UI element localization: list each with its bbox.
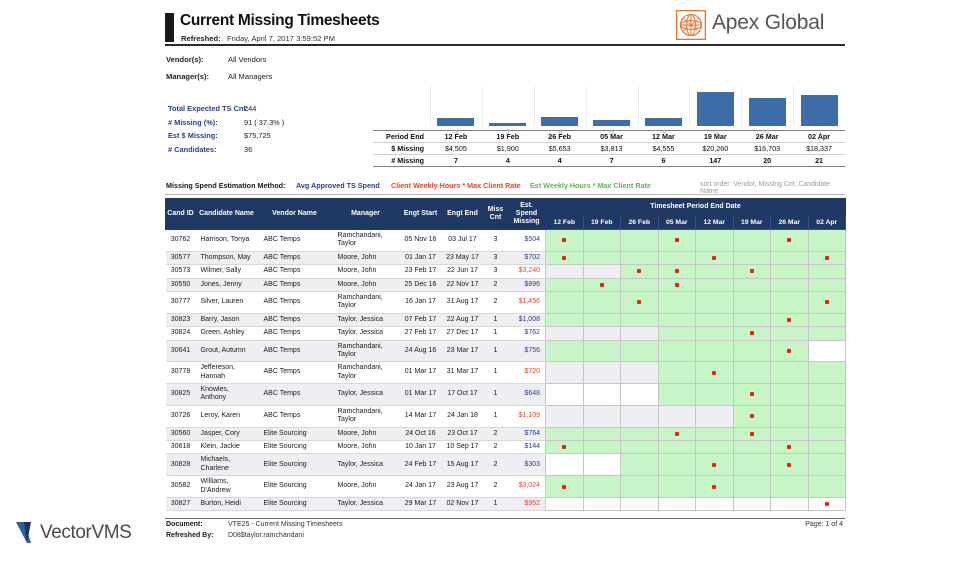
title-accent-bar [165, 13, 174, 42]
period-cell-12-feb[interactable] [546, 327, 584, 340]
cell-candidate-name: Barry, Jason [196, 313, 258, 326]
period-cell-12-mar[interactable] [696, 340, 734, 362]
table-row[interactable]: 30825Knowles, AnthonyABC TempsTaylor, Je… [166, 384, 846, 406]
cell-engt-end: 23 May 17 [442, 251, 484, 264]
period-cell-02-apr[interactable] [808, 340, 846, 362]
period-summary-cell: 6 [638, 155, 690, 167]
report-footer: Document: VTE25 - Current Missing Timesh… [165, 521, 845, 543]
chart-bar-cell: -4 [638, 86, 690, 126]
cell-est-spend-missing: $1,008 [508, 313, 546, 326]
cell-engt-end: 23 Mar 17 [442, 340, 484, 362]
period-cell-12-feb[interactable] [546, 427, 584, 440]
table-row[interactable]: 30560Jasper, CoryElite SourcingMoore, Jo… [166, 427, 846, 440]
refreshed-label: Refreshed: [181, 34, 221, 43]
period-cell-19-feb[interactable] [583, 251, 621, 264]
period-cell-02-apr[interactable] [808, 384, 846, 406]
missing-timesheet-marker-icon [787, 463, 791, 467]
period-cell-19-mar[interactable] [733, 384, 771, 406]
period-cell-19-mar[interactable] [733, 313, 771, 326]
header-timesheet-period-group: Timesheet Period End Date [546, 199, 846, 216]
refreshed-by-label: Refreshed By: [166, 532, 213, 539]
period-cell-12-feb[interactable] [546, 340, 584, 362]
missing-timesheet-marker-icon [750, 392, 754, 396]
period-cell-12-mar[interactable] [696, 454, 734, 476]
cell-candidate-name: Williams, D'Andrew [196, 476, 258, 498]
method-option-avg-approved[interactable]: Avg Approved TS Spend [296, 181, 380, 190]
missing-timesheet-marker-icon [712, 371, 716, 375]
stat-label: Est $ Missing: [168, 131, 218, 140]
vendor-filter-value[interactable]: All Vendors [228, 55, 266, 64]
period-cell-19-mar[interactable] [733, 251, 771, 264]
period-cell-05-mar[interactable] [658, 230, 696, 252]
header-period-26-mar[interactable]: 26 Mar [771, 216, 809, 230]
period-cell-19-mar[interactable] [733, 427, 771, 440]
period-cell-12-feb[interactable] [546, 454, 584, 476]
header-candidate-name[interactable]: Candidate Name [196, 199, 258, 230]
cell-manager: Moore, John [332, 278, 400, 291]
table-row[interactable]: 30778Jeffereson, HannahABC TempsRamchand… [166, 362, 846, 384]
period-cell-26-feb[interactable] [621, 497, 659, 510]
period-cell-26-feb[interactable] [621, 476, 659, 498]
period-cell-26-feb[interactable] [621, 265, 659, 278]
apex-global-logo: Apex Global [676, 9, 848, 43]
period-cell-26-feb[interactable] [621, 384, 659, 406]
table-row[interactable]: 30827Burton, HeidiElite SourcingTaylor, … [166, 497, 846, 510]
period-cell-19-mar[interactable] [733, 441, 771, 454]
stat-label: # Candidates: [168, 145, 216, 154]
period-cell-05-mar[interactable] [658, 476, 696, 498]
period-summary-cell: $4,505 [430, 143, 482, 155]
chart-bar-label: -3 [697, 129, 734, 136]
cell-manager: Ramchandani, Taylor [332, 291, 400, 313]
header-cand-id[interactable]: Cand ID [166, 199, 196, 230]
period-cell-05-mar[interactable] [658, 497, 696, 510]
period-cell-05-mar[interactable] [658, 313, 696, 326]
period-cell-19-feb[interactable] [583, 291, 621, 313]
header-vendor-name[interactable]: Vendor Name [258, 199, 332, 230]
est-spend-value: $896 [524, 281, 540, 288]
period-cell-19-feb[interactable] [583, 327, 621, 340]
period-cell-26-mar[interactable] [771, 497, 809, 510]
period-cell-05-mar[interactable] [658, 454, 696, 476]
period-cell-12-mar[interactable] [696, 230, 734, 252]
header-period-19-feb[interactable]: 19 Feb [583, 216, 621, 230]
period-cell-02-apr[interactable] [808, 313, 846, 326]
sort-order-note: sort order: Vendor, Missing Cnt, Candida… [700, 181, 845, 195]
cell-manager: Taylor, Jessica [332, 497, 400, 510]
cell-manager: Moore, John [332, 427, 400, 440]
period-cell-19-mar[interactable] [733, 230, 771, 252]
period-cell-12-mar[interactable] [696, 251, 734, 264]
period-cell-19-feb[interactable] [583, 265, 621, 278]
period-cell-02-apr[interactable] [808, 230, 846, 252]
missing-timesheet-marker-icon [787, 238, 791, 242]
period-cell-26-feb[interactable] [621, 340, 659, 362]
period-cell-02-apr[interactable] [808, 497, 846, 510]
page-number: Page: 1 of 4 [805, 521, 843, 528]
header-engt-end[interactable]: Engt End [442, 199, 484, 230]
missing-timesheet-marker-icon [675, 283, 679, 287]
header-period-12-mar[interactable]: 12 Mar [696, 216, 734, 230]
period-cell-26-mar[interactable] [771, 230, 809, 252]
missing-timesheet-marker-icon [600, 283, 604, 287]
period-cell-12-feb[interactable] [546, 476, 584, 498]
chart-bar-cell: -3 [689, 86, 741, 126]
cell-engt-end: 03 Jul 17 [442, 230, 484, 252]
period-cell-19-feb[interactable] [583, 340, 621, 362]
period-cell-19-feb[interactable] [583, 476, 621, 498]
cell-engt-start: 14 Mar 17 [400, 405, 442, 427]
period-cell-26-feb[interactable] [621, 313, 659, 326]
period-cell-12-mar[interactable] [696, 405, 734, 427]
cell-engt-end: 31 Mar 17 [442, 362, 484, 384]
chart-bar-label: -7 [489, 129, 526, 136]
stat-missing-pct: # Missing (%): 91 ( 37.3% ) [168, 118, 408, 132]
footer-row-document: Document: VTE25 - Current Missing Timesh… [165, 521, 845, 532]
period-cell-12-mar[interactable] [696, 497, 734, 510]
chart-bar: -6 [541, 117, 578, 126]
cell-engt-start: 01 Mar 17 [400, 384, 442, 406]
period-summary-cell: $4,555 [638, 143, 690, 155]
period-cell-19-feb[interactable] [583, 427, 621, 440]
period-cell-05-mar[interactable] [658, 251, 696, 264]
document-label: Document: [166, 521, 203, 528]
period-cell-26-mar[interactable] [771, 291, 809, 313]
cell-manager: Moore, John [332, 251, 400, 264]
period-cell-05-mar[interactable] [658, 405, 696, 427]
cell-engt-end: 02 Nov 17 [442, 497, 484, 510]
period-cell-12-mar[interactable] [696, 384, 734, 406]
period-cell-05-mar[interactable] [658, 278, 696, 291]
period-cell-05-mar[interactable] [658, 441, 696, 454]
period-cell-12-feb[interactable] [546, 230, 584, 252]
missing-timesheet-marker-icon [787, 349, 791, 353]
cell-manager: Taylor, Jessica [332, 384, 400, 406]
table-row[interactable]: 30762Harrison, TonyaABC TempsRamchandani… [166, 230, 846, 252]
period-cell-26-mar[interactable] [771, 340, 809, 362]
period-cell-12-feb[interactable] [546, 251, 584, 264]
stat-value: 244 [244, 104, 256, 113]
period-cell-05-mar[interactable] [658, 384, 696, 406]
period-cell-26-mar[interactable] [771, 362, 809, 384]
table-row[interactable]: 30777Silver, LaurenABC TempsRamchandani,… [166, 291, 846, 313]
missing-timesheet-marker-icon [675, 432, 679, 436]
missing-timesheet-marker-icon [675, 269, 679, 273]
period-cell-19-mar[interactable] [733, 405, 771, 427]
period-cell-02-apr[interactable] [808, 454, 846, 476]
chart-bar-label: -2 [749, 129, 786, 136]
cell-cand-id: 30778 [166, 362, 196, 384]
missing-timesheet-marker-icon [825, 256, 829, 260]
cell-engt-start: 01 Jan 17 [400, 251, 442, 264]
period-cell-26-feb[interactable] [621, 327, 659, 340]
est-spend-value: $764 [524, 430, 540, 437]
manager-filter-value[interactable]: All Managers [228, 72, 272, 81]
cell-engt-start: 24 Jan 17 [400, 476, 442, 498]
stat-label: # Missing (%): [168, 118, 218, 127]
vectorvms-logo: VectorVMS [14, 519, 134, 549]
period-cell-26-feb[interactable] [621, 441, 659, 454]
period-cell-26-feb[interactable] [621, 230, 659, 252]
period-cell-12-mar[interactable] [696, 265, 734, 278]
period-cell-02-apr[interactable] [808, 251, 846, 264]
cell-miss-cnt: 2 [484, 441, 508, 454]
period-cell-12-feb[interactable] [546, 291, 584, 313]
missing-timesheet-marker-icon [750, 432, 754, 436]
est-spend-value: $648 [524, 390, 540, 397]
filters-block: Vendor(s): All Vendors Manager(s): All M… [165, 55, 565, 89]
period-cell-12-mar[interactable] [696, 362, 734, 384]
table-row[interactable]: 30618Klein, JackieElite SourcingMoore, J… [166, 441, 846, 454]
header-period-19-mar[interactable]: 19 Mar [733, 216, 771, 230]
cell-engt-end: 24 Jan 18 [442, 405, 484, 427]
period-cell-12-mar[interactable] [696, 291, 734, 313]
period-cell-19-mar[interactable] [733, 476, 771, 498]
period-cell-26-mar[interactable] [771, 265, 809, 278]
cell-manager: Ramchandani, Taylor [332, 405, 400, 427]
period-cell-12-mar[interactable] [696, 313, 734, 326]
est-spend-value: $144 [524, 443, 540, 450]
chart-bars: -8-7-6-5-4-3-2-1 [430, 86, 845, 126]
period-cell-12-feb[interactable] [546, 384, 584, 406]
period-cell-02-apr[interactable] [808, 278, 846, 291]
period-cell-12-feb[interactable] [546, 278, 584, 291]
period-cell-26-feb[interactable] [621, 278, 659, 291]
table-row[interactable]: 30823Barry, JasonABC TempsTaylor, Jessic… [166, 313, 846, 326]
cell-miss-cnt: 2 [484, 454, 508, 476]
period-cell-02-apr[interactable] [808, 291, 846, 313]
table-row[interactable]: 30641Grout, AutumnABC TempsRamchandani, … [166, 340, 846, 362]
header-manager[interactable]: Manager [332, 199, 400, 230]
period-summary-cell: 4 [482, 155, 534, 167]
period-cell-05-mar[interactable] [658, 265, 696, 278]
cell-miss-cnt: 3 [484, 251, 508, 264]
period-cell-19-feb[interactable] [583, 405, 621, 427]
missing-timesheet-marker-icon [712, 256, 716, 260]
period-cell-05-mar[interactable] [658, 340, 696, 362]
period-cell-05-mar[interactable] [658, 291, 696, 313]
table-row[interactable]: 30573Wilmer, SallyABC TempsMoore, John23… [166, 265, 846, 278]
period-cell-12-feb[interactable] [546, 497, 584, 510]
period-cell-19-mar[interactable] [733, 278, 771, 291]
missing-timesheet-marker-icon [825, 502, 829, 506]
period-cell-26-feb[interactable] [621, 251, 659, 264]
chart-bar: -7 [489, 123, 526, 126]
period-cell-26-mar[interactable] [771, 454, 809, 476]
missing-spend-bar-chart: -8-7-6-5-4-3-2-1 [430, 86, 845, 132]
period-cell-19-mar[interactable] [733, 497, 771, 510]
period-cell-26-mar[interactable] [771, 476, 809, 498]
period-cell-02-apr[interactable] [808, 362, 846, 384]
period-cell-26-feb[interactable] [621, 405, 659, 427]
est-spend-value: $702 [524, 254, 540, 261]
period-cell-19-feb[interactable] [583, 441, 621, 454]
header-est-spend-missing[interactable]: Est. Spend Missing [508, 199, 546, 230]
est-spend-value: $756 [524, 347, 540, 354]
cell-miss-cnt: 1 [484, 327, 508, 340]
table-row[interactable]: 30577Thompson, MayABC TempsMoore, John01… [166, 251, 846, 264]
period-cell-19-feb[interactable] [583, 454, 621, 476]
cell-est-spend-missing: $3,240 [508, 265, 546, 278]
period-cell-26-mar[interactable] [771, 384, 809, 406]
cell-engt-end: 22 Aug 17 [442, 313, 484, 326]
header-period-26-feb[interactable]: 26 Feb [621, 216, 659, 230]
cell-manager: Taylor, Jessica [332, 313, 400, 326]
period-cell-02-apr[interactable] [808, 327, 846, 340]
period-cell-19-mar[interactable] [733, 340, 771, 362]
period-summary-cell: 21 [793, 155, 845, 167]
cell-vendor-name: ABC Temps [258, 340, 332, 362]
period-cell-26-mar[interactable] [771, 441, 809, 454]
period-cell-26-feb[interactable] [621, 427, 659, 440]
period-summary-cell: 7 [586, 155, 638, 167]
period-cell-19-mar[interactable] [733, 454, 771, 476]
cell-cand-id: 30560 [166, 427, 196, 440]
est-spend-value: $303 [524, 461, 540, 468]
missing-timesheet-marker-icon [637, 269, 641, 273]
period-cell-12-mar[interactable] [696, 427, 734, 440]
period-cell-19-mar[interactable] [733, 291, 771, 313]
period-cell-12-feb[interactable] [546, 441, 584, 454]
period-cell-12-mar[interactable] [696, 278, 734, 291]
chart-gridline [430, 86, 431, 126]
period-cell-26-mar[interactable] [771, 278, 809, 291]
period-cell-12-feb[interactable] [546, 405, 584, 427]
header-period-12-feb[interactable]: 12 Feb [546, 216, 584, 230]
period-cell-19-feb[interactable] [583, 362, 621, 384]
period-cell-19-mar[interactable] [733, 327, 771, 340]
period-cell-02-apr[interactable] [808, 265, 846, 278]
period-cell-12-mar[interactable] [696, 327, 734, 340]
period-cell-02-apr[interactable] [808, 476, 846, 498]
table-row[interactable]: 30582Williams, D'AndrewElite SourcingMoo… [166, 476, 846, 498]
cell-est-spend-missing: $702 [508, 251, 546, 264]
report-page: Current Missing Timesheets Refreshed: Fr… [0, 0, 960, 569]
cell-engt-start: 16 Jan 17 [400, 291, 442, 313]
cell-engt-start: 10 Jan 17 [400, 441, 442, 454]
period-cell-02-apr[interactable] [808, 441, 846, 454]
period-cell-02-apr[interactable] [808, 405, 846, 427]
period-summary-row-label: # Missing [373, 155, 430, 167]
cell-candidate-name: Jasper, Cory [196, 427, 258, 440]
cell-est-spend-missing: $1,109 [508, 405, 546, 427]
brand-name: Apex Global [712, 11, 824, 35]
period-cell-19-feb[interactable] [583, 497, 621, 510]
table-row[interactable]: 30828Michaels, CharleneElite SourcingTay… [166, 454, 846, 476]
footer-divider [165, 518, 845, 519]
period-cell-19-feb[interactable] [583, 230, 621, 252]
cell-candidate-name: Burton, Heidi [196, 497, 258, 510]
cell-manager: Ramchandani, Taylor [332, 230, 400, 252]
period-cell-12-feb[interactable] [546, 265, 584, 278]
cell-vendor-name: ABC Temps [258, 230, 332, 252]
cell-miss-cnt: 3 [484, 265, 508, 278]
period-cell-19-mar[interactable] [733, 265, 771, 278]
cell-vendor-name: Elite Sourcing [258, 454, 332, 476]
chart-bar: -1 [801, 95, 838, 126]
period-cell-26-mar[interactable] [771, 405, 809, 427]
period-cell-05-mar[interactable] [658, 427, 696, 440]
cell-engt-start: 24 Feb 17 [400, 454, 442, 476]
cell-miss-cnt: 1 [484, 340, 508, 362]
cell-candidate-name: Thompson, May [196, 251, 258, 264]
period-cell-26-feb[interactable] [621, 291, 659, 313]
period-cell-26-mar[interactable] [771, 427, 809, 440]
cell-miss-cnt: 1 [484, 405, 508, 427]
period-cell-02-apr[interactable] [808, 427, 846, 440]
period-cell-19-feb[interactable] [583, 278, 621, 291]
header-miss-cnt[interactable]: Miss Cnt [484, 199, 508, 230]
period-cell-26-mar[interactable] [771, 313, 809, 326]
cell-engt-end: 22 Jun 17 [442, 265, 484, 278]
cell-vendor-name: ABC Temps [258, 313, 332, 326]
cell-vendor-name: ABC Temps [258, 278, 332, 291]
cell-est-spend-missing: $504 [508, 230, 546, 252]
header-period-02-apr[interactable]: 02 Apr [808, 216, 846, 230]
period-cell-26-feb[interactable] [621, 454, 659, 476]
chart-gridline [793, 86, 794, 126]
stat-total-expected: Total Expected TS Cnt: 244 [168, 104, 408, 118]
cell-candidate-name: Klein, Jackie [196, 441, 258, 454]
period-cell-12-feb[interactable] [546, 362, 584, 384]
cell-miss-cnt: 1 [484, 384, 508, 406]
period-cell-26-mar[interactable] [771, 251, 809, 264]
chart-bar-cell: -7 [482, 86, 534, 126]
header-period-05-mar[interactable]: 05 Mar [658, 216, 696, 230]
cell-miss-cnt: 2 [484, 476, 508, 498]
chart-bar-cell: -8 [430, 86, 482, 126]
missing-timesheet-marker-icon [675, 238, 679, 242]
period-cell-12-feb[interactable] [546, 313, 584, 326]
cell-manager: Moore, John [332, 476, 400, 498]
cell-est-spend-missing: $756 [508, 340, 546, 362]
period-summary-row-label: Period End [373, 131, 430, 143]
cell-vendor-name: ABC Temps [258, 405, 332, 427]
globe-icon [676, 10, 706, 40]
table-row[interactable]: 30550Jones, JennyABC TempsMoore, John25 … [166, 278, 846, 291]
chart-bar-cell: -2 [741, 86, 793, 126]
period-cell-26-mar[interactable] [771, 327, 809, 340]
period-cell-19-mar[interactable] [733, 362, 771, 384]
period-cell-05-mar[interactable] [658, 362, 696, 384]
cell-vendor-name: ABC Temps [258, 384, 332, 406]
cell-manager: Ramchandani, Taylor [332, 340, 400, 362]
method-option-est-weekly[interactable]: Est Weekly Hours * Max Client Rate [530, 181, 651, 190]
filter-row-vendor: Vendor(s): All Vendors [165, 55, 565, 72]
period-cell-19-feb[interactable] [583, 313, 621, 326]
table-row[interactable]: 30824Green, AshleyABC TempsTaylor, Jessi… [166, 327, 846, 340]
footer-row-refreshed-by: Refreshed By: D08$taylor.ramchandani [165, 532, 845, 543]
period-cell-05-mar[interactable] [658, 327, 696, 340]
period-cell-26-feb[interactable] [621, 362, 659, 384]
est-spend-value: $3,024 [519, 482, 540, 489]
period-cell-12-mar[interactable] [696, 476, 734, 498]
chart-bar-label: -1 [801, 129, 838, 136]
cell-candidate-name: Michaels, Charlene [196, 454, 258, 476]
est-spend-value: $720 [524, 368, 540, 375]
cell-manager: Taylor, Jessica [332, 454, 400, 476]
period-cell-19-feb[interactable] [583, 384, 621, 406]
method-option-client-weekly[interactable]: Client Weekly Hours * Max Client Rate [391, 181, 521, 190]
cell-est-spend-missing: $1,456 [508, 291, 546, 313]
est-spend-value: $1,008 [519, 316, 540, 323]
cell-cand-id: 30824 [166, 327, 196, 340]
table-row[interactable]: 30726Leroy, KarenABC TempsRamchandani, T… [166, 405, 846, 427]
vector-v-icon [14, 519, 40, 547]
cell-engt-end: 27 Dec 17 [442, 327, 484, 340]
header-engt-start[interactable]: Engt Start [400, 199, 442, 230]
period-cell-12-mar[interactable] [696, 441, 734, 454]
